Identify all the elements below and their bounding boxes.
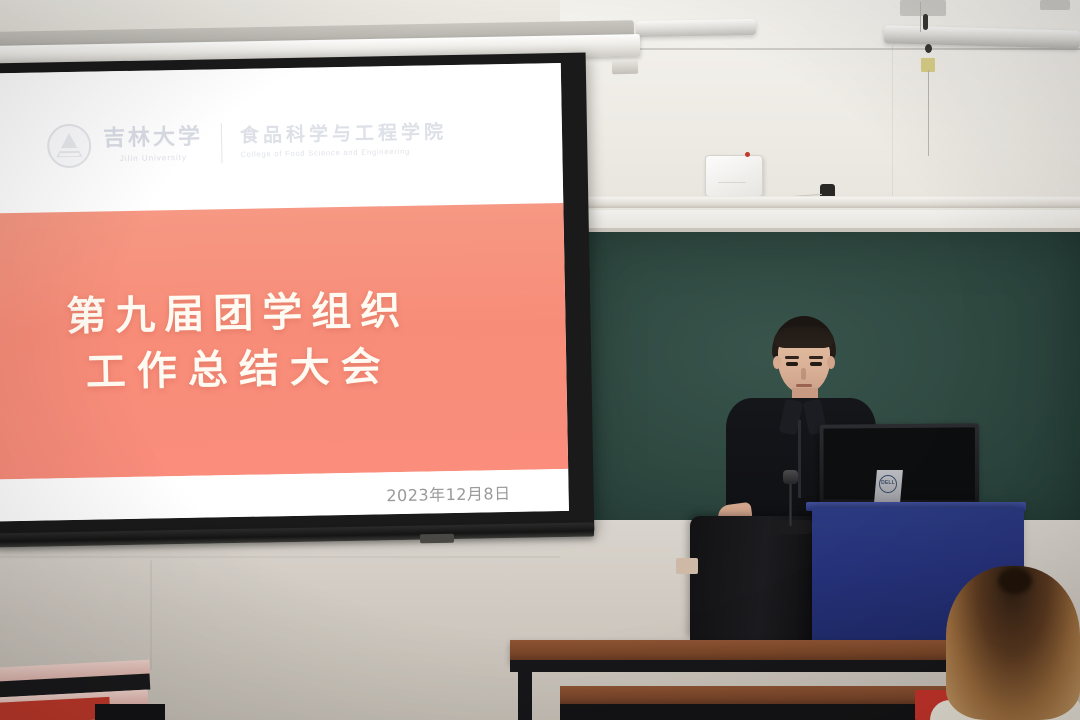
hanging-wire xyxy=(928,70,929,156)
presenter-mouth xyxy=(796,384,812,387)
audience-person-icon xyxy=(946,566,1080,720)
desk-edge xyxy=(510,660,990,672)
monitor-brand-label: DELL xyxy=(880,480,896,486)
presenter-ear xyxy=(827,356,835,369)
slide-university-name-en: Jilin University xyxy=(103,152,203,163)
hanging-sensor-icon xyxy=(923,14,928,30)
wall-seam xyxy=(892,46,893,196)
microphone-icon xyxy=(783,470,798,484)
front-desk-edge xyxy=(95,704,165,720)
logo-divider xyxy=(221,123,223,163)
wall-seam xyxy=(0,556,560,558)
slide-title-line2: 工作总结大会 xyxy=(85,342,392,398)
presenter-eyebrow xyxy=(809,356,823,359)
jacket-zipper xyxy=(798,420,801,498)
audience-hair-part xyxy=(998,568,1032,594)
slide-header: 吉林大学 Jilin University 食品科学与工程学院 College … xyxy=(0,63,563,214)
presenter-hair-front xyxy=(774,326,834,348)
slide-date: 2023年12月8日 xyxy=(386,480,511,506)
projection-screen-frame: 吉林大学 Jilin University 食品科学与工程学院 College … xyxy=(0,53,594,542)
presenter-ear xyxy=(773,356,781,369)
presenter-eye xyxy=(810,362,822,366)
desk-row xyxy=(510,640,990,662)
presenter-nose xyxy=(801,368,806,380)
slide-title-band: 第九届团学组织 工作总结大会 xyxy=(0,203,568,479)
ap-label-line xyxy=(718,182,746,183)
roller-endcap xyxy=(612,60,638,74)
slide-college-name-en: College of Food Science and Engineering xyxy=(240,147,447,160)
slide-title-line1: 第九届团学组织 xyxy=(66,286,410,342)
presenter-eye xyxy=(786,362,798,366)
slide-university-name-cn: 吉林大学 xyxy=(103,126,203,151)
projection-screen: 吉林大学 Jilin University 食品科学与工程学院 College … xyxy=(0,63,569,521)
screen-bar-nub xyxy=(420,534,454,544)
av-cabinet xyxy=(690,516,822,640)
slide-logo-row: 吉林大学 Jilin University 食品科学与工程学院 College … xyxy=(47,117,448,168)
jilin-university-crest-icon xyxy=(47,124,92,169)
cabinet-handle[interactable] xyxy=(676,558,698,574)
microphone-stem xyxy=(789,482,792,526)
desk-leg xyxy=(518,668,532,720)
wall-seam xyxy=(150,560,152,670)
wall-rail xyxy=(560,196,1080,208)
slide-footer: 2023年12月8日 xyxy=(0,469,569,522)
wifi-access-point-icon xyxy=(705,155,763,197)
hanging-sensor-icon xyxy=(925,44,932,53)
hanging-wire xyxy=(920,2,921,32)
slide-college-name-cn: 食品科学与工程学院 xyxy=(240,123,447,147)
presenter-eyebrow xyxy=(785,356,799,359)
slide-title-wrap: 第九届团学组织 工作总结大会 xyxy=(0,203,568,479)
fluorescent-light-icon xyxy=(636,19,756,37)
status-led xyxy=(745,152,750,157)
classroom-photo-scene: SCREEN 吉林大学 Jilin University 食品科学与工程学院 C… xyxy=(0,0,1080,720)
light-mount xyxy=(1040,0,1070,10)
